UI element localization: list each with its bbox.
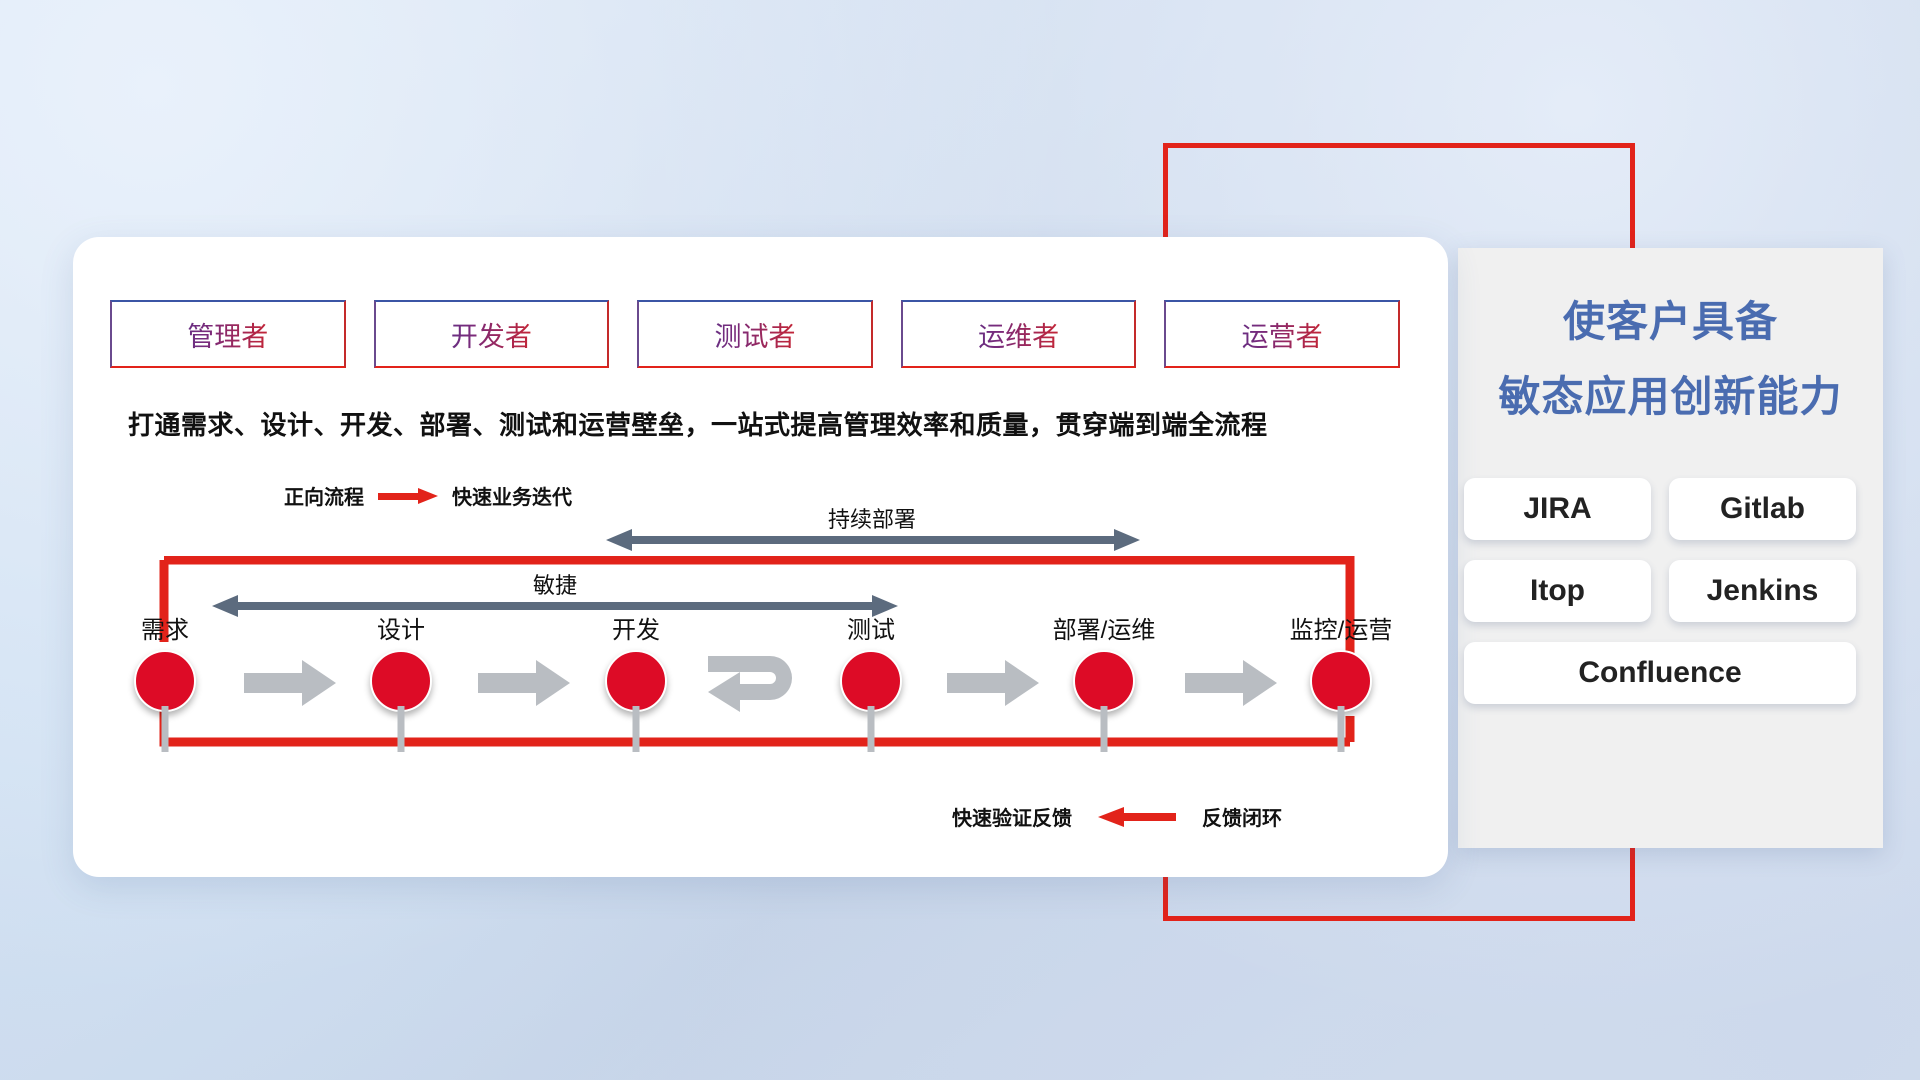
stage-label: 监控/运营	[1290, 610, 1393, 645]
stage-monitor-operations[interactable]: 监控/运营	[1310, 650, 1372, 712]
panel-title-line2: 敏态应用创新能力	[1458, 363, 1883, 424]
role-label: 运营者	[1242, 315, 1323, 354]
stage-development[interactable]: 开发	[605, 650, 667, 712]
role-box-operations[interactable]: 运营者	[1164, 300, 1400, 368]
stage-dot	[370, 650, 432, 712]
description-text: 打通需求、设计、开发、部署、测试和运营壁垒，一站式提高管理效率和质量，贯穿端到端…	[128, 405, 1268, 442]
agile-arrow	[212, 594, 898, 618]
stage-testing[interactable]: 测试	[840, 650, 902, 712]
loopback-arrow-icon	[700, 648, 810, 720]
stage-dot	[605, 650, 667, 712]
tool-label: Itop	[1530, 574, 1585, 608]
role-boxes-row: 管理者 开发者 测试者 运维者 运营者	[110, 300, 1400, 368]
chevron-arrow-4	[1185, 660, 1277, 706]
arrow-right-red-icon	[378, 490, 438, 502]
fast-validation-label: 快速验证反馈	[952, 802, 1072, 831]
role-box-developer[interactable]: 开发者	[374, 300, 610, 368]
stage-dot	[1310, 650, 1372, 712]
tool-button-jira[interactable]: JIRA	[1464, 478, 1651, 540]
role-label: 管理者	[187, 315, 268, 354]
stage-requirement[interactable]: 需求	[134, 650, 196, 712]
stage-stem	[162, 706, 169, 752]
tool-label: Gitlab	[1720, 492, 1805, 526]
stage-stem	[398, 706, 405, 752]
feedback-loop-label: 反馈闭环	[1202, 802, 1282, 831]
tool-button-itop[interactable]: Itop	[1464, 560, 1651, 622]
tool-label: Jenkins	[1707, 574, 1819, 608]
arrow-left-red-icon	[1098, 810, 1176, 824]
role-box-ops[interactable]: 运维者	[901, 300, 1137, 368]
chevron-arrow-1	[244, 660, 336, 706]
tool-button-confluence[interactable]: Confluence	[1464, 642, 1856, 704]
role-label: 开发者	[451, 315, 532, 354]
legend-forward-flow: 正向流程 快速业务迭代	[284, 481, 572, 510]
tool-label: Confluence	[1578, 656, 1741, 690]
tool-button-gitlab[interactable]: Gitlab	[1669, 478, 1856, 540]
role-box-manager[interactable]: 管理者	[110, 300, 346, 368]
panel-title-line1: 使客户具备	[1458, 288, 1883, 349]
role-label: 运维者	[978, 315, 1059, 354]
role-label: 测试者	[714, 315, 795, 354]
tools-list: JIRA Gitlab Itop Jenkins Confluence	[1464, 478, 1876, 704]
stage-label: 需求	[141, 610, 189, 645]
panel-title: 使客户具备 敏态应用创新能力	[1458, 288, 1883, 424]
chevron-arrow-2	[478, 660, 570, 706]
stage-dot	[1073, 650, 1135, 712]
stage-stem	[1101, 706, 1108, 752]
continuous-deployment-arrow	[606, 528, 1140, 552]
tool-button-jenkins[interactable]: Jenkins	[1669, 560, 1856, 622]
chevron-arrow-3	[947, 660, 1039, 706]
fast-iteration-label: 快速业务迭代	[452, 481, 572, 510]
forward-flow-label: 正向流程	[284, 481, 364, 510]
stage-deploy-ops[interactable]: 部署/运维	[1073, 650, 1135, 712]
tool-label: JIRA	[1523, 492, 1591, 526]
stage-stem	[868, 706, 875, 752]
stage-dot	[840, 650, 902, 712]
stage-design[interactable]: 设计	[370, 650, 432, 712]
stage-dot	[134, 650, 196, 712]
legend-feedback-loop: 快速验证反馈 反馈闭环	[952, 802, 1282, 831]
stage-label: 部署/运维	[1053, 610, 1156, 645]
role-box-tester[interactable]: 测试者	[637, 300, 873, 368]
stage-stem	[1338, 706, 1345, 752]
stage-stem	[633, 706, 640, 752]
